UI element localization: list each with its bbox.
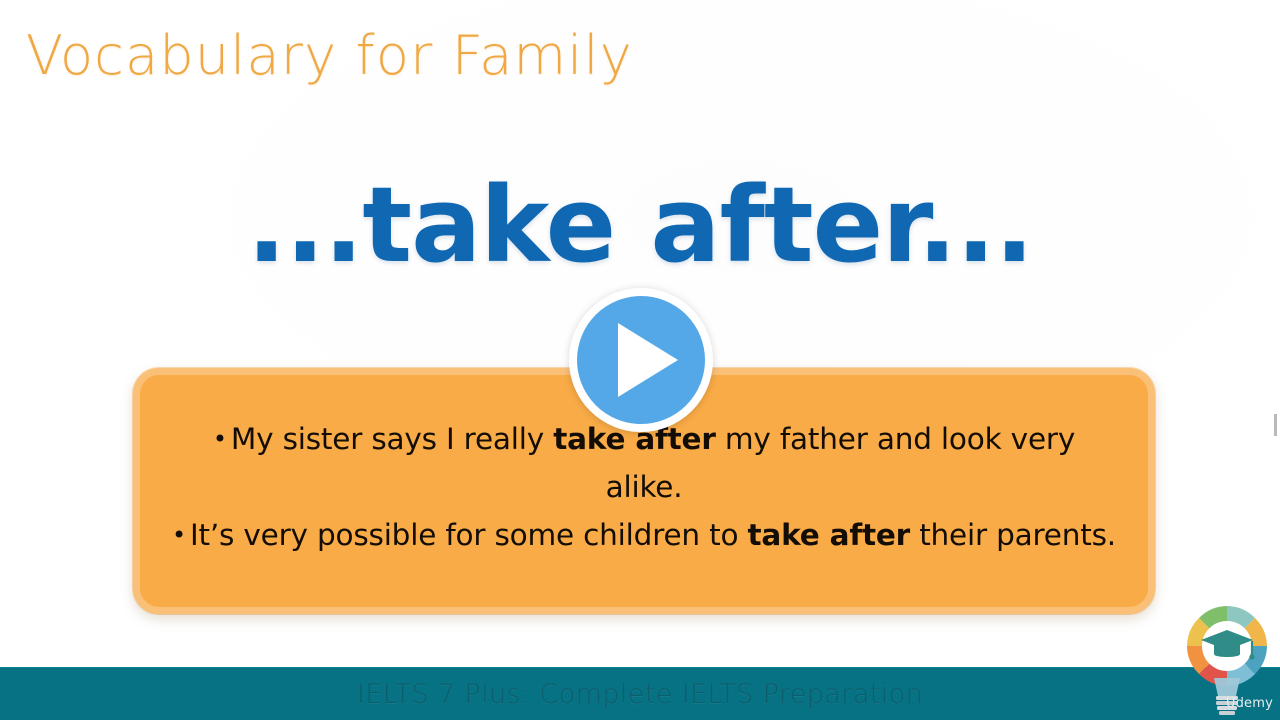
- course-title: IELTS 7 Plus: Complete IELTS Preparation: [357, 679, 923, 710]
- list-item: •It’s very possible for some children to…: [162, 512, 1126, 560]
- edge-artifact: [1274, 414, 1277, 436]
- play-button[interactable]: [569, 288, 713, 432]
- example-text-bold: take after: [748, 518, 911, 552]
- course-bar: IELTS 7 Plus: Complete IELTS Preparation: [0, 667, 1280, 720]
- example-text-before: It’s very possible for some children to: [190, 518, 747, 552]
- page-title: Vocabulary for Family: [26, 24, 633, 87]
- example-text-before: My sister says I really: [231, 422, 553, 456]
- play-triangle-icon: [618, 323, 678, 397]
- brand-name: Udemy: [1226, 696, 1273, 711]
- main-phrase: ...take after...: [0, 168, 1280, 282]
- slide-canvas: Vocabulary for Family ...take after... •…: [0, 0, 1280, 720]
- bullet-icon: •: [213, 425, 231, 453]
- example-text-after: their parents.: [910, 518, 1116, 552]
- bullet-icon: •: [172, 521, 190, 549]
